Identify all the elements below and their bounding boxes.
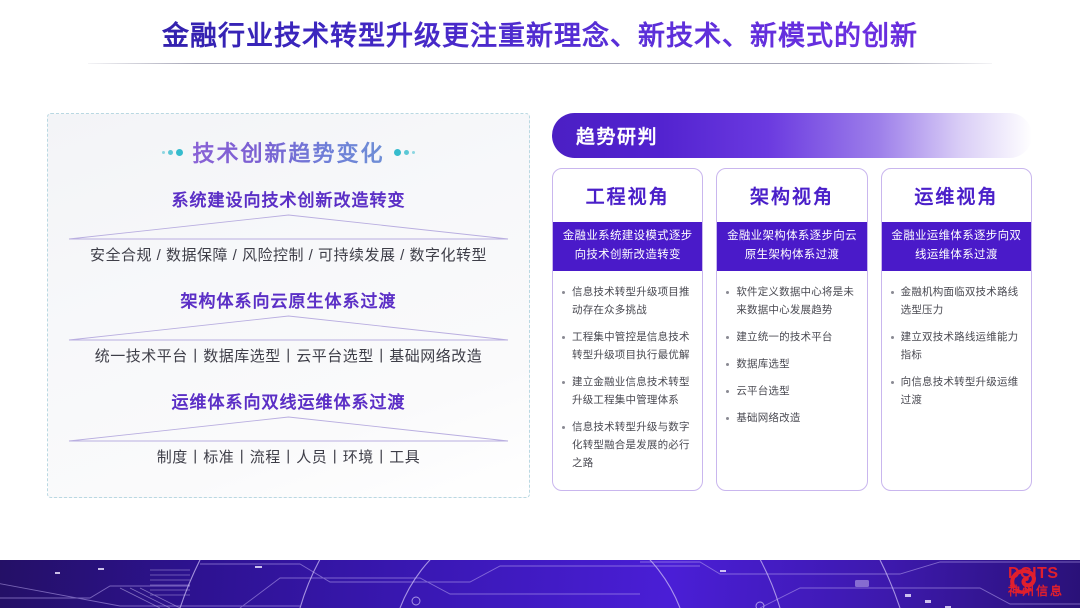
list-item: 工程集中管控是信息技术转型升级项目执行最优解 — [562, 328, 693, 364]
list-item: 基础网络改造 — [726, 409, 857, 427]
bullet-dot-icon — [726, 291, 729, 294]
card-engineering[interactable]: 工程视角 金融业系统建设模式逐步向技术创新改造转变 信息技术转型升级项目推动存在… — [552, 168, 703, 491]
trend-items: 安全合规 / 数据保障 / 风险控制 / 可持续发展 / 数字化转型 — [64, 244, 513, 265]
list-item: 软件定义数据中心将是未来数据中心发展趋势 — [726, 283, 857, 319]
footer-band: DCITS 神州信息 — [0, 560, 1080, 608]
card-architecture[interactable]: 架构视角 金融业架构体系逐步向云原生架构体系过渡 软件定义数据中心将是未来数据中… — [716, 168, 867, 491]
perspective-cards: 工程视角 金融业系统建设模式逐步向技术创新改造转变 信息技术转型升级项目推动存在… — [552, 168, 1032, 491]
list-item-label: 建立双技术路线运维能力指标 — [901, 328, 1022, 364]
dots-right-icon — [394, 149, 415, 156]
list-item: 建立金融业信息技术转型升级工程集中管理体系 — [562, 373, 693, 409]
list-item: 建立双技术路线运维能力指标 — [891, 328, 1022, 364]
list-item-label: 建立统一的技术平台 — [736, 328, 857, 346]
bullet-dot-icon — [891, 381, 894, 384]
list-item: 信息技术转型升级项目推动存在众多挑战 — [562, 283, 693, 319]
dcits-swirl-icon — [1008, 566, 1038, 596]
trend-title: 架构体系向云原生体系过渡 — [64, 287, 513, 312]
trend-title: 运维体系向双线运维体系过渡 — [64, 388, 513, 413]
trend-block-2: 架构体系向云原生体系过渡 统一技术平台丨数据库选型丨云平台选型丨基础网络改造 — [64, 287, 513, 366]
list-item-label: 基础网络改造 — [736, 409, 857, 427]
bullet-dot-icon — [726, 363, 729, 366]
bullet-dot-icon — [726, 417, 729, 420]
bullet-dot-icon — [891, 291, 894, 294]
card-body: 软件定义数据中心将是未来数据中心发展趋势 建立统一的技术平台 数据库选型 云平台… — [717, 271, 866, 490]
card-operations[interactable]: 运维视角 金融业运维体系逐步向双线运维体系过渡 金融机构面临双技术路线选型压力 … — [881, 168, 1032, 491]
bullet-dot-icon — [562, 381, 565, 384]
trend-block-1: 系统建设向技术创新改造转变 安全合规 / 数据保障 / 风险控制 / 可持续发展… — [64, 186, 513, 265]
list-item-label: 工程集中管控是信息技术转型升级项目执行最优解 — [572, 328, 693, 364]
funnel-shape-icon — [64, 213, 513, 243]
list-item: 数据库选型 — [726, 355, 857, 373]
left-panel-heading-label: 技术创新趋势变化 — [192, 136, 384, 168]
bullet-dot-icon — [562, 336, 565, 339]
trend-assessment-panel: 趋势研判 工程视角 金融业系统建设模式逐步向技术创新改造转变 信息技术转型升级项… — [552, 113, 1032, 491]
list-item-label: 建立金融业信息技术转型升级工程集中管理体系 — [572, 373, 693, 409]
dots-left-icon — [162, 149, 183, 156]
trend-change-panel: 技术创新趋势变化 系统建设向技术创新改造转变 安全合规 / 数据保障 / 风险控… — [47, 113, 530, 498]
card-body: 信息技术转型升级项目推动存在众多挑战 工程集中管控是信息技术转型升级项目执行最优… — [553, 271, 702, 490]
list-item-label: 数据库选型 — [736, 355, 857, 373]
bullet-dot-icon — [891, 336, 894, 339]
list-item-label: 信息技术转型升级项目推动存在众多挑战 — [572, 283, 693, 319]
card-subtitle-band: 金融业运维体系逐步向双线运维体系过渡 — [882, 222, 1031, 271]
card-subtitle-band: 金融业架构体系逐步向云原生架构体系过渡 — [717, 222, 866, 271]
bullet-dot-icon — [726, 390, 729, 393]
funnel-shape-icon — [64, 415, 513, 445]
page-title: 金融行业技术转型升级更注重新理念、新技术、新模式的创新 — [0, 14, 1080, 53]
list-item: 信息技术转型升级与数字化转型融合是发展的必行之路 — [562, 418, 693, 472]
list-item-label: 金融机构面临双技术路线选型压力 — [901, 283, 1022, 319]
list-item: 金融机构面临双技术路线选型压力 — [891, 283, 1022, 319]
section-header-label: 趋势研判 — [576, 122, 658, 149]
bullet-dot-icon — [562, 291, 565, 294]
list-item-label: 软件定义数据中心将是未来数据中心发展趋势 — [736, 283, 857, 319]
card-subtitle-band: 金融业系统建设模式逐步向技术创新改造转变 — [553, 222, 702, 271]
list-item: 建立统一的技术平台 — [726, 328, 857, 346]
card-title: 运维视角 — [882, 169, 1031, 222]
card-body: 金融机构面临双技术路线选型压力 建立双技术路线运维能力指标 向信息技术转型升级运… — [882, 271, 1031, 490]
funnel-shape-icon — [64, 314, 513, 344]
trend-block-3: 运维体系向双线运维体系过渡 制度丨标准丨流程丨人员丨环境丨工具 — [64, 388, 513, 467]
list-item-label: 云平台选型 — [736, 382, 857, 400]
circuit-decoration-icon — [0, 560, 1080, 608]
company-logo: DCITS 神州信息 — [1008, 566, 1064, 597]
title-divider — [88, 63, 992, 64]
trend-items: 制度丨标准丨流程丨人员丨环境丨工具 — [64, 446, 513, 467]
list-item-label: 信息技术转型升级与数字化转型融合是发展的必行之路 — [572, 418, 693, 472]
bullet-dot-icon — [726, 336, 729, 339]
list-item: 向信息技术转型升级运维过渡 — [891, 373, 1022, 409]
card-title: 工程视角 — [553, 169, 702, 222]
card-title: 架构视角 — [717, 169, 866, 222]
trend-items: 统一技术平台丨数据库选型丨云平台选型丨基础网络改造 — [64, 345, 513, 366]
bullet-dot-icon — [562, 426, 565, 429]
trend-title: 系统建设向技术创新改造转变 — [64, 186, 513, 211]
left-panel-heading: 技术创新趋势变化 — [64, 136, 513, 168]
list-item-label: 向信息技术转型升级运维过渡 — [901, 373, 1022, 409]
section-header-pill: 趋势研判 — [552, 113, 1032, 158]
list-item: 云平台选型 — [726, 382, 857, 400]
